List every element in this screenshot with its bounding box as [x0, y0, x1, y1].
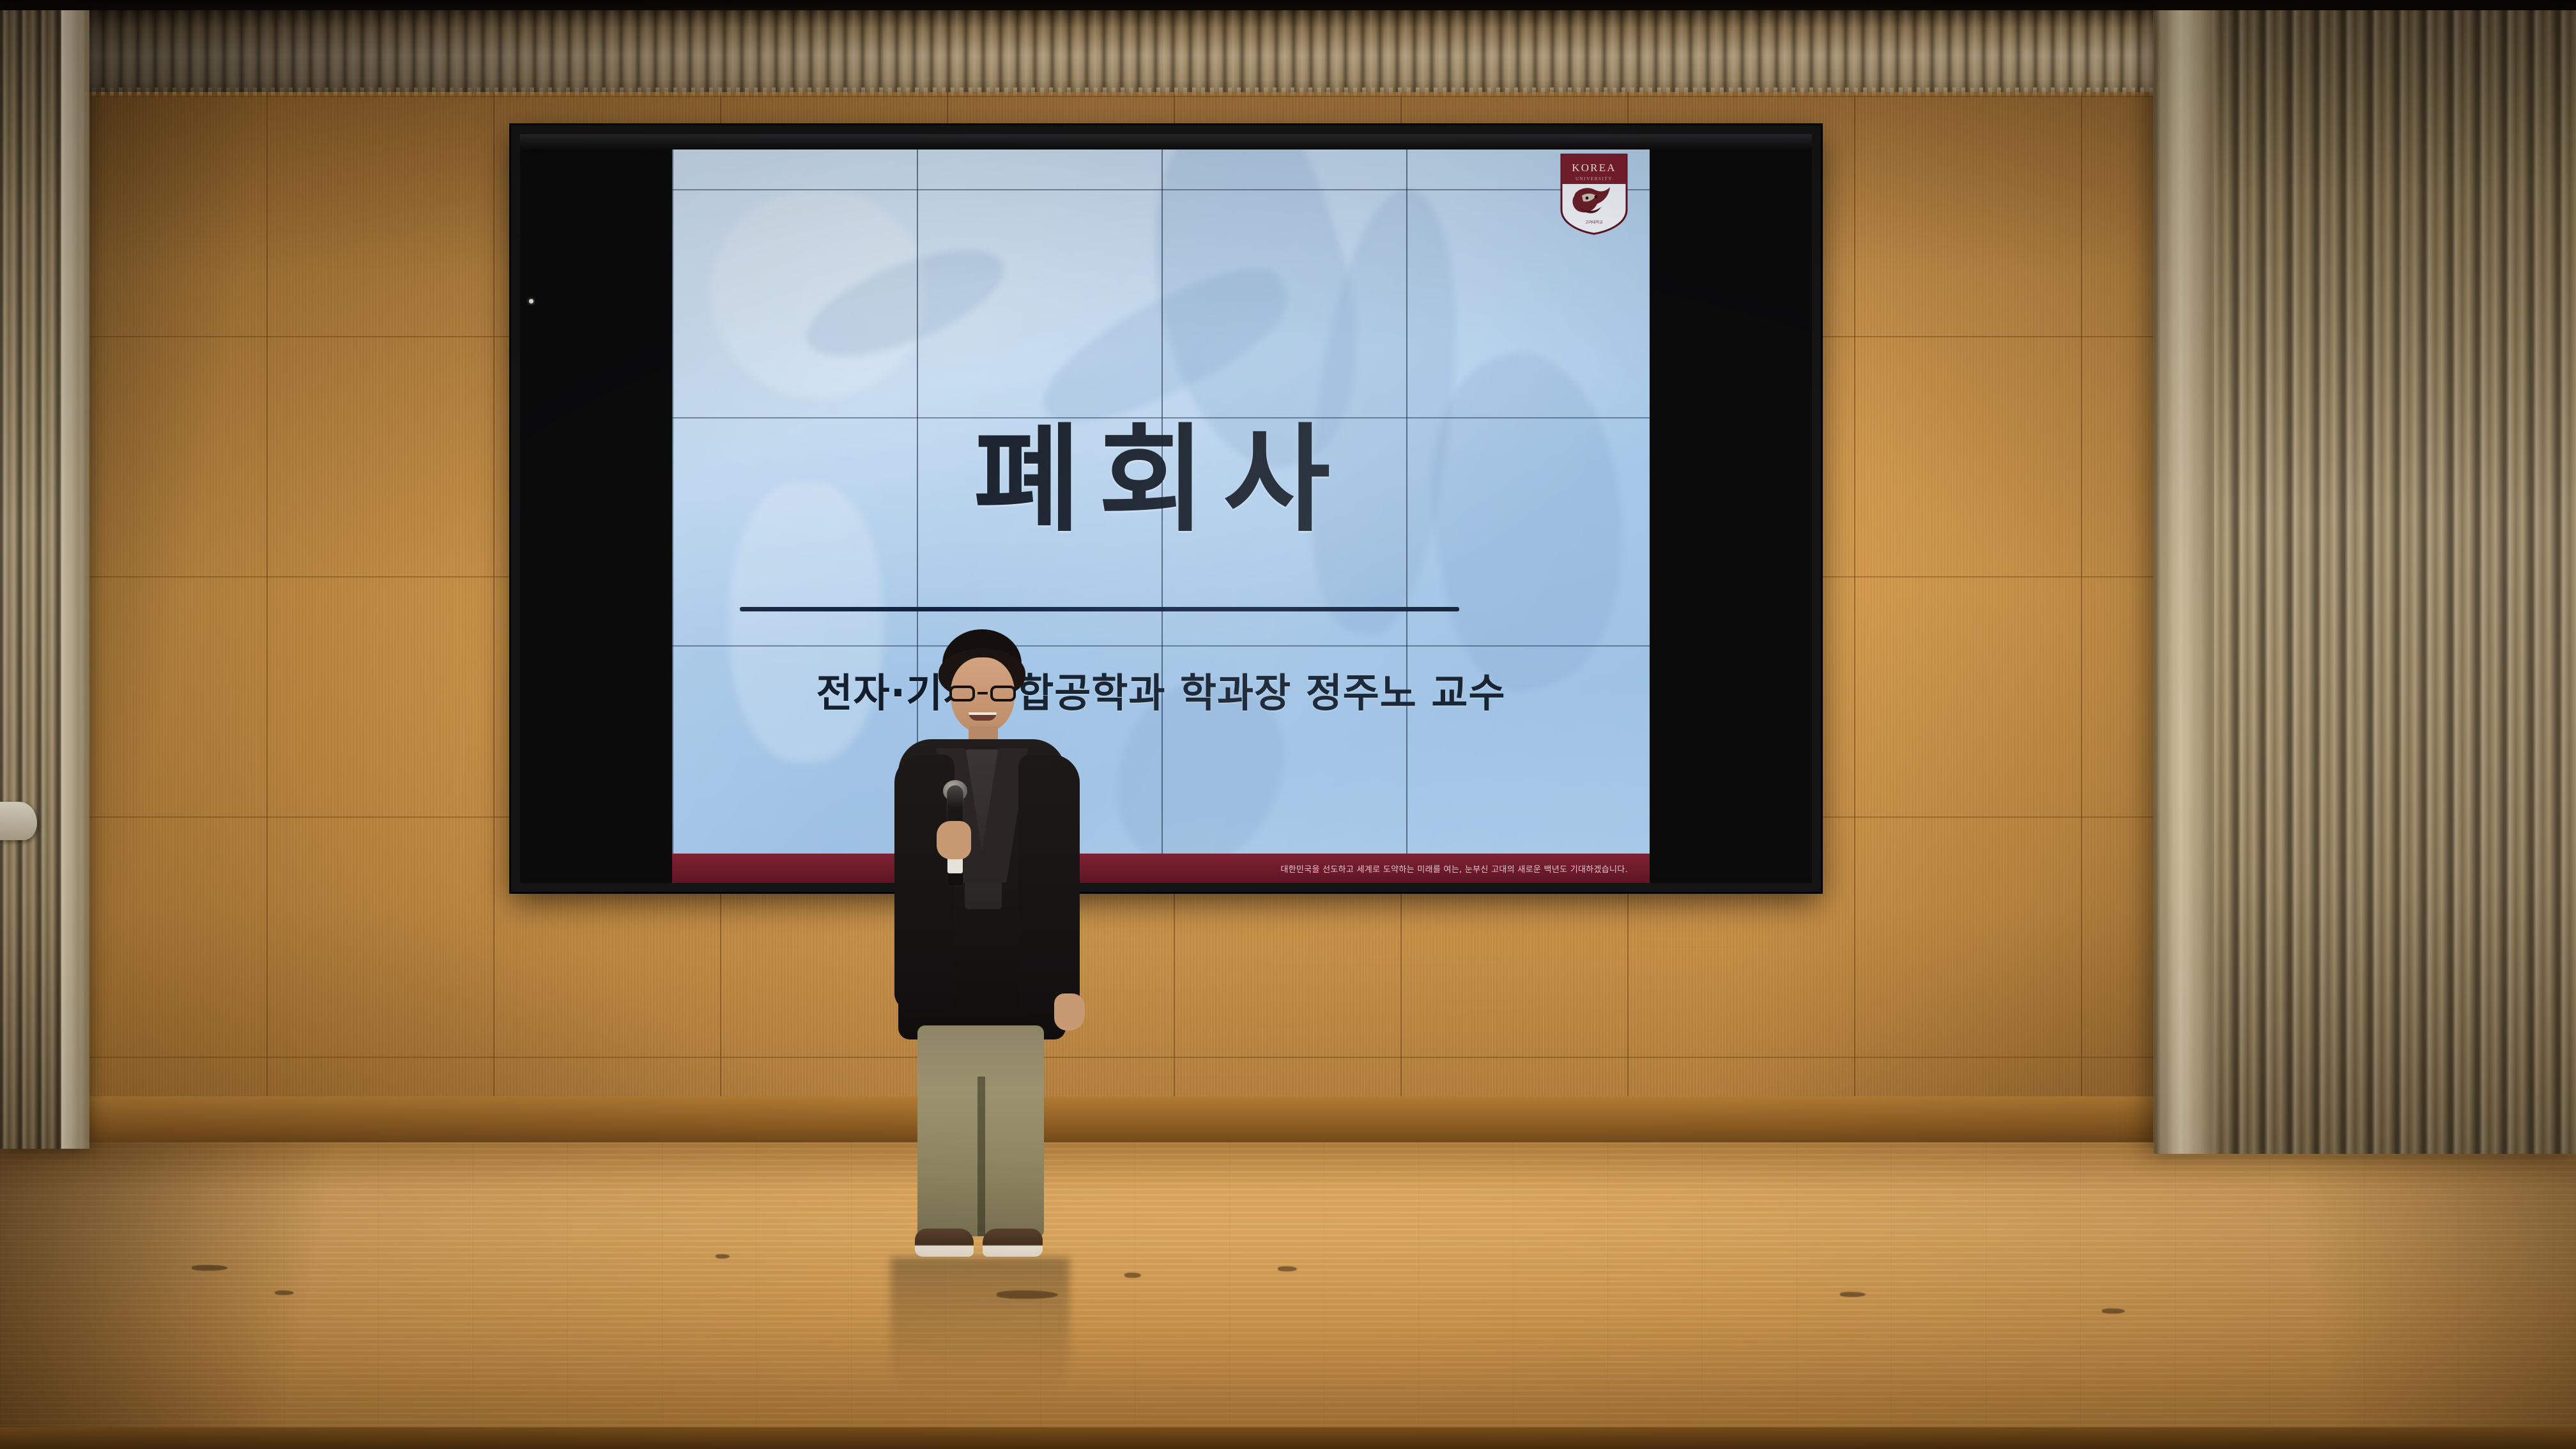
stage-curtain-right — [2154, 10, 2576, 1154]
slide-subtitle: 전자·기계융합공학과 학과장 정주노 교수 — [672, 661, 1650, 718]
floor-scuff-mark — [716, 1254, 730, 1259]
glasses-icon — [949, 686, 1016, 702]
stage-curtain-right-leading-edge — [2153, 10, 2214, 1154]
slide-divider-rule — [740, 607, 1459, 611]
presentation-slide: KOREA UNIVERSITY 고려대학교 폐회사 전자·기계융합공학과 학과… — [672, 149, 1650, 883]
floor-shadow-left — [0, 1142, 396, 1449]
svg-text:KOREA: KOREA — [1572, 162, 1616, 174]
display-top-bevel — [520, 134, 1812, 149]
korea-university-logo: KOREA UNIVERSITY 고려대학교 — [1560, 153, 1628, 235]
presenter-mouth — [969, 712, 997, 721]
slide-title: 폐회사 — [672, 386, 1650, 554]
display-indicator-led — [529, 299, 533, 303]
auditorium-stage-scene: KOREA UNIVERSITY 고려대학교 폐회사 전자·기계융합공학과 학과… — [0, 0, 2576, 1449]
floor-scuff-mark — [1124, 1273, 1141, 1278]
presenter — [875, 629, 1086, 1268]
led-video-wall[interactable]: KOREA UNIVERSITY 고려대학교 폐회사 전자·기계융합공학과 학과… — [511, 125, 1821, 892]
presenter-hand-left — [937, 821, 971, 859]
presenter-arm-right — [1018, 755, 1080, 1013]
presenter-shoe-left — [915, 1229, 974, 1257]
floor-scuff-mark — [1278, 1266, 1297, 1271]
floor-scuff-mark — [1840, 1292, 1866, 1297]
svg-text:UNIVERSITY: UNIVERSITY — [1575, 176, 1613, 181]
stage-equipment-edge — [0, 802, 37, 840]
presenter-hand-right — [1054, 993, 1085, 1031]
presenter-floor-reflection — [891, 1257, 1069, 1417]
stage-front-edge — [0, 1427, 2576, 1449]
presenter-trouser-gap — [977, 1077, 985, 1236]
floor-shadow-right — [2257, 1142, 2576, 1449]
stage-curtain-left-panel — [61, 10, 89, 1149]
valance-shadow — [0, 10, 979, 92]
floor-scuff-mark — [192, 1265, 227, 1271]
floor-scuff-mark — [2102, 1308, 2125, 1314]
presenter-shoe-right — [983, 1229, 1043, 1257]
slide-footer-banner: 대한민국을 선도하고 세계로 도약하는 미래를 여는, 눈부신 고대의 새로운 … — [672, 854, 1650, 883]
floor-scuff-mark — [275, 1291, 294, 1295]
svg-text:고려대학교: 고려대학교 — [1585, 220, 1603, 225]
slide-banner-text: 대한민국을 선도하고 세계로 도약하는 미래를 여는, 눈부신 고대의 새로운 … — [1280, 862, 1628, 875]
